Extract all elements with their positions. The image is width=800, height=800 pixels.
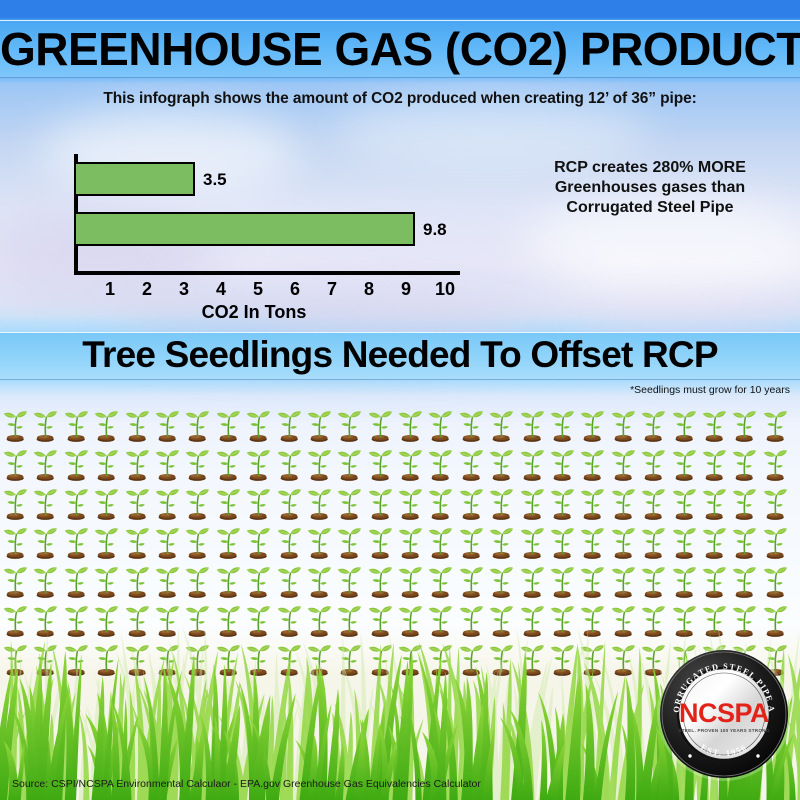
tree-seedling-icon <box>0 522 30 561</box>
tree-seedling-icon <box>182 522 212 561</box>
tree-seedling-icon <box>638 561 668 600</box>
tree-seedling-icon <box>760 483 790 522</box>
tree-seedling-icon <box>274 561 304 600</box>
seedling-row <box>0 444 800 483</box>
tree-seedling-icon <box>577 522 607 561</box>
tree-seedling-icon <box>547 405 577 444</box>
tree-seedling-icon <box>760 522 790 561</box>
tree-seedling-icon <box>729 483 759 522</box>
x-tick-1: 1 <box>105 279 115 300</box>
tree-seedling-icon <box>243 444 273 483</box>
subtitle-text: This infograph shows the amount of CO2 p… <box>0 90 800 108</box>
tree-seedling-icon <box>0 483 30 522</box>
ncspa-logo: NATIONAL CORRUGATED STEEL PIPE ASSOCIATI… <box>656 646 792 782</box>
tree-seedling-icon <box>304 483 334 522</box>
tree-seedling-icon <box>365 444 395 483</box>
seedling-row <box>0 483 800 522</box>
chart-x-axis <box>74 271 460 275</box>
source-citation: Source: CSPI/NCSPA Environmental Calcula… <box>12 778 481 790</box>
tree-seedling-icon <box>30 405 60 444</box>
callout-line-3: Corrugated Steel Pipe <box>500 198 800 218</box>
tree-seedling-icon <box>213 522 243 561</box>
tree-seedling-icon <box>122 444 152 483</box>
tree-seedling-icon <box>152 561 182 600</box>
tree-seedling-icon <box>760 444 790 483</box>
tree-seedling-icon <box>122 522 152 561</box>
tree-seedling-icon <box>243 405 273 444</box>
tree-seedling-icon <box>365 405 395 444</box>
tree-seedling-icon <box>395 522 425 561</box>
tree-seedling-icon <box>425 444 455 483</box>
tree-seedling-icon <box>395 483 425 522</box>
tree-seedling-icon <box>699 444 729 483</box>
tree-seedling-icon <box>729 522 759 561</box>
tree-seedling-icon <box>182 405 212 444</box>
tree-seedling-icon <box>425 561 455 600</box>
section-title: Tree Seedlings Needed To Offset RCP <box>0 332 800 380</box>
x-tick-7: 7 <box>327 279 337 300</box>
tree-seedling-icon <box>182 483 212 522</box>
infographic-page: GREENHOUSE GAS (CO2) PRODUCTION This inf… <box>0 0 800 800</box>
tree-seedling-icon <box>669 444 699 483</box>
tree-seedling-icon <box>274 483 304 522</box>
tree-seedling-icon <box>456 483 486 522</box>
tree-seedling-icon <box>456 444 486 483</box>
tree-seedling-icon <box>91 405 121 444</box>
tree-seedling-icon <box>547 444 577 483</box>
tree-seedling-icon <box>334 444 364 483</box>
tree-seedling-icon <box>638 444 668 483</box>
ncspa-logo-icon: NATIONAL CORRUGATED STEEL PIPE ASSOCIATI… <box>656 646 792 782</box>
page-title: GREENHOUSE GAS (CO2) PRODUCTION <box>0 20 800 78</box>
tree-seedling-icon <box>334 483 364 522</box>
tree-seedling-icon <box>213 444 243 483</box>
tree-seedling-icon <box>365 522 395 561</box>
x-tick-8: 8 <box>364 279 374 300</box>
tree-seedling-icon <box>699 483 729 522</box>
tree-seedling-icon <box>456 522 486 561</box>
bar-rcp <box>74 212 415 246</box>
tree-seedling-icon <box>608 483 638 522</box>
tree-seedling-icon <box>334 405 364 444</box>
x-tick-3: 3 <box>179 279 189 300</box>
tree-seedling-icon <box>729 444 759 483</box>
tree-seedling-icon <box>213 483 243 522</box>
tree-seedling-icon <box>91 483 121 522</box>
tree-seedling-icon <box>699 405 729 444</box>
tree-seedling-icon <box>486 405 516 444</box>
tree-seedling-icon <box>30 483 60 522</box>
tree-seedling-icon <box>122 405 152 444</box>
tree-seedling-icon <box>91 444 121 483</box>
tree-seedling-icon <box>669 405 699 444</box>
tree-seedling-icon <box>61 561 91 600</box>
tree-seedling-icon <box>395 561 425 600</box>
logo-tagline: STEEL. PROVEN 100 YEARS STRONG <box>678 728 769 733</box>
tree-seedling-icon <box>760 561 790 600</box>
callout-line-2: Greenhouses gases than <box>500 178 800 198</box>
tree-seedling-icon <box>669 483 699 522</box>
tree-seedling-icon <box>669 522 699 561</box>
tree-seedling-icon <box>61 444 91 483</box>
tree-seedling-icon <box>638 405 668 444</box>
tree-seedling-icon <box>182 444 212 483</box>
tree-seedling-icon <box>517 561 547 600</box>
tree-seedling-icon <box>152 483 182 522</box>
seedling-row <box>0 561 800 600</box>
x-tick-6: 6 <box>290 279 300 300</box>
tree-seedling-icon <box>699 561 729 600</box>
tree-seedling-icon <box>608 444 638 483</box>
chart-x-axis-title: CO2 In Tons <box>74 302 434 323</box>
tree-seedling-icon <box>274 405 304 444</box>
tree-seedling-icon <box>0 561 30 600</box>
callout-line-1: RCP creates 280% MORE <box>500 158 800 178</box>
tree-seedling-icon <box>425 483 455 522</box>
tree-seedling-icon <box>243 561 273 600</box>
tree-seedling-icon <box>486 444 516 483</box>
tree-seedling-icon <box>547 522 577 561</box>
tree-seedling-icon <box>547 483 577 522</box>
tree-seedling-icon <box>425 405 455 444</box>
tree-seedling-icon <box>517 405 547 444</box>
tree-seedling-icon <box>395 444 425 483</box>
tree-seedling-icon <box>61 483 91 522</box>
tree-seedling-icon <box>425 522 455 561</box>
seedling-row <box>0 522 800 561</box>
tree-seedling-icon <box>456 405 486 444</box>
tree-seedling-icon <box>608 561 638 600</box>
tree-seedling-icon <box>638 522 668 561</box>
tree-seedling-icon <box>304 405 334 444</box>
tree-seedling-icon <box>274 444 304 483</box>
tree-seedling-icon <box>517 444 547 483</box>
tree-seedling-icon <box>30 561 60 600</box>
tree-seedling-icon <box>760 405 790 444</box>
tree-seedling-icon <box>729 561 759 600</box>
tree-seedling-icon <box>638 483 668 522</box>
seedling-row <box>0 405 800 444</box>
tree-seedling-icon <box>365 483 395 522</box>
tree-seedling-icon <box>729 405 759 444</box>
tree-seedling-icon <box>577 405 607 444</box>
tree-seedling-icon <box>61 405 91 444</box>
tree-seedling-icon <box>699 522 729 561</box>
tree-seedling-icon <box>517 522 547 561</box>
bar-value-label-1: 9.8 <box>423 220 447 240</box>
tree-seedling-icon <box>669 561 699 600</box>
co2-bar-chart: CSP 3.5 RCP 9.8 1 2 3 4 5 6 7 8 9 10 CO2… <box>0 140 500 310</box>
tree-seedling-icon <box>91 522 121 561</box>
tree-seedling-icon <box>0 444 30 483</box>
tree-seedling-icon <box>152 444 182 483</box>
x-tick-5: 5 <box>253 279 263 300</box>
tree-seedling-icon <box>577 483 607 522</box>
tree-seedling-icon <box>213 405 243 444</box>
tree-seedling-icon <box>577 561 607 600</box>
tree-seedling-icon <box>608 522 638 561</box>
tree-seedling-icon <box>213 561 243 600</box>
tree-seedling-icon <box>334 561 364 600</box>
tree-seedling-icon <box>517 483 547 522</box>
bar-value-label-0: 3.5 <box>203 170 227 190</box>
tree-seedling-icon <box>243 522 273 561</box>
x-tick-10: 10 <box>435 279 455 300</box>
tree-seedling-icon <box>486 483 516 522</box>
tree-seedling-icon <box>395 405 425 444</box>
tree-seedling-icon <box>152 522 182 561</box>
tree-seedling-icon <box>274 522 304 561</box>
tree-seedling-icon <box>577 444 607 483</box>
bar-csp <box>74 162 195 196</box>
tree-seedling-icon <box>304 522 334 561</box>
tree-seedling-icon <box>547 561 577 600</box>
x-tick-9: 9 <box>401 279 411 300</box>
seedling-footnote: *Seedlings must grow for 10 years <box>630 384 790 396</box>
tree-seedling-icon <box>152 405 182 444</box>
x-tick-4: 4 <box>216 279 226 300</box>
tree-seedling-icon <box>486 522 516 561</box>
tree-seedling-icon <box>182 561 212 600</box>
tree-seedling-icon <box>365 561 395 600</box>
tree-seedling-icon <box>304 561 334 600</box>
tree-seedling-icon <box>122 483 152 522</box>
tree-seedling-icon <box>30 444 60 483</box>
tree-seedling-icon <box>30 522 60 561</box>
tree-seedling-icon <box>61 522 91 561</box>
tree-seedling-icon <box>456 561 486 600</box>
tree-seedling-icon <box>91 561 121 600</box>
tree-seedling-icon <box>608 405 638 444</box>
tree-seedling-icon <box>0 405 30 444</box>
x-tick-2: 2 <box>142 279 152 300</box>
logo-wordmark: NCSPA <box>679 698 769 728</box>
chart-x-ticks: 1 2 3 4 5 6 7 8 9 10 <box>74 279 460 303</box>
comparison-callout: RCP creates 280% MORE Greenhouses gases … <box>500 158 800 218</box>
tree-seedling-icon <box>243 483 273 522</box>
tree-seedling-icon <box>122 561 152 600</box>
tree-seedling-icon <box>486 561 516 600</box>
tree-seedling-icon <box>304 444 334 483</box>
tree-seedling-icon <box>334 522 364 561</box>
